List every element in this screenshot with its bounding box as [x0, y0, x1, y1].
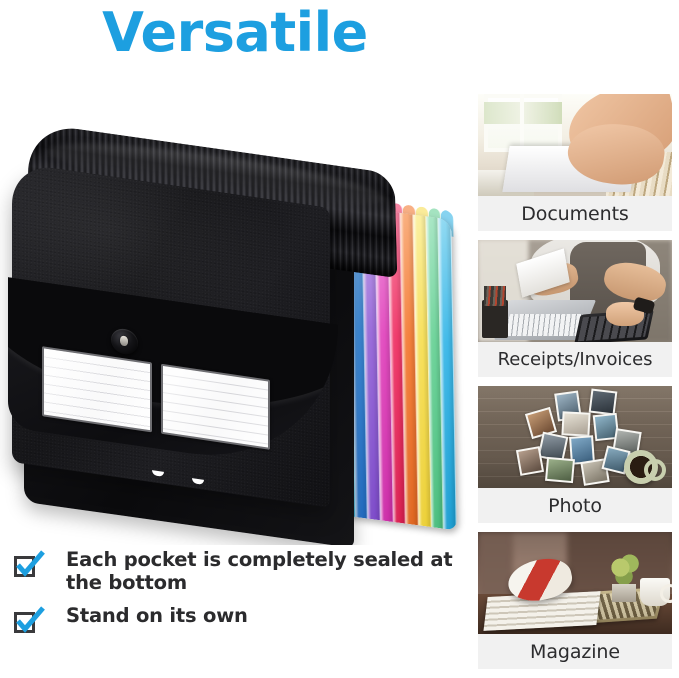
usecase-card-photo: Photo: [478, 386, 672, 523]
usecase-card-magazine: Magazine: [478, 532, 672, 669]
checkbox-checked-icon: [14, 553, 40, 579]
checkbox-checked-icon: [14, 609, 40, 635]
usecase-label: Magazine: [478, 634, 672, 669]
feature-label: Stand on its own: [66, 604, 248, 627]
usecase-list: Documents Receipts/Invoices: [478, 94, 672, 678]
usecase-photo-receipts: [478, 240, 672, 342]
usecase-label: Receipts/Invoices: [478, 342, 672, 377]
usecase-photo-magazine: [478, 532, 672, 634]
feature-item: Stand on its own: [0, 604, 470, 635]
usecase-card-documents: Documents: [478, 94, 672, 231]
product-illustration: [6, 115, 466, 545]
feature-item: Each pocket is completely sealed at the …: [0, 548, 470, 594]
feature-list: Each pocket is completely sealed at the …: [0, 548, 470, 645]
usecase-label: Photo: [478, 488, 672, 523]
usecase-photo-documents: [478, 94, 672, 196]
product-image: [0, 95, 470, 545]
usecase-label: Documents: [478, 196, 672, 231]
usecase-card-receipts: Receipts/Invoices: [478, 240, 672, 377]
usecase-photo-photos: [478, 386, 672, 488]
feature-label: Each pocket is completely sealed at the …: [66, 548, 470, 594]
page-title: Versatile: [0, 2, 470, 64]
